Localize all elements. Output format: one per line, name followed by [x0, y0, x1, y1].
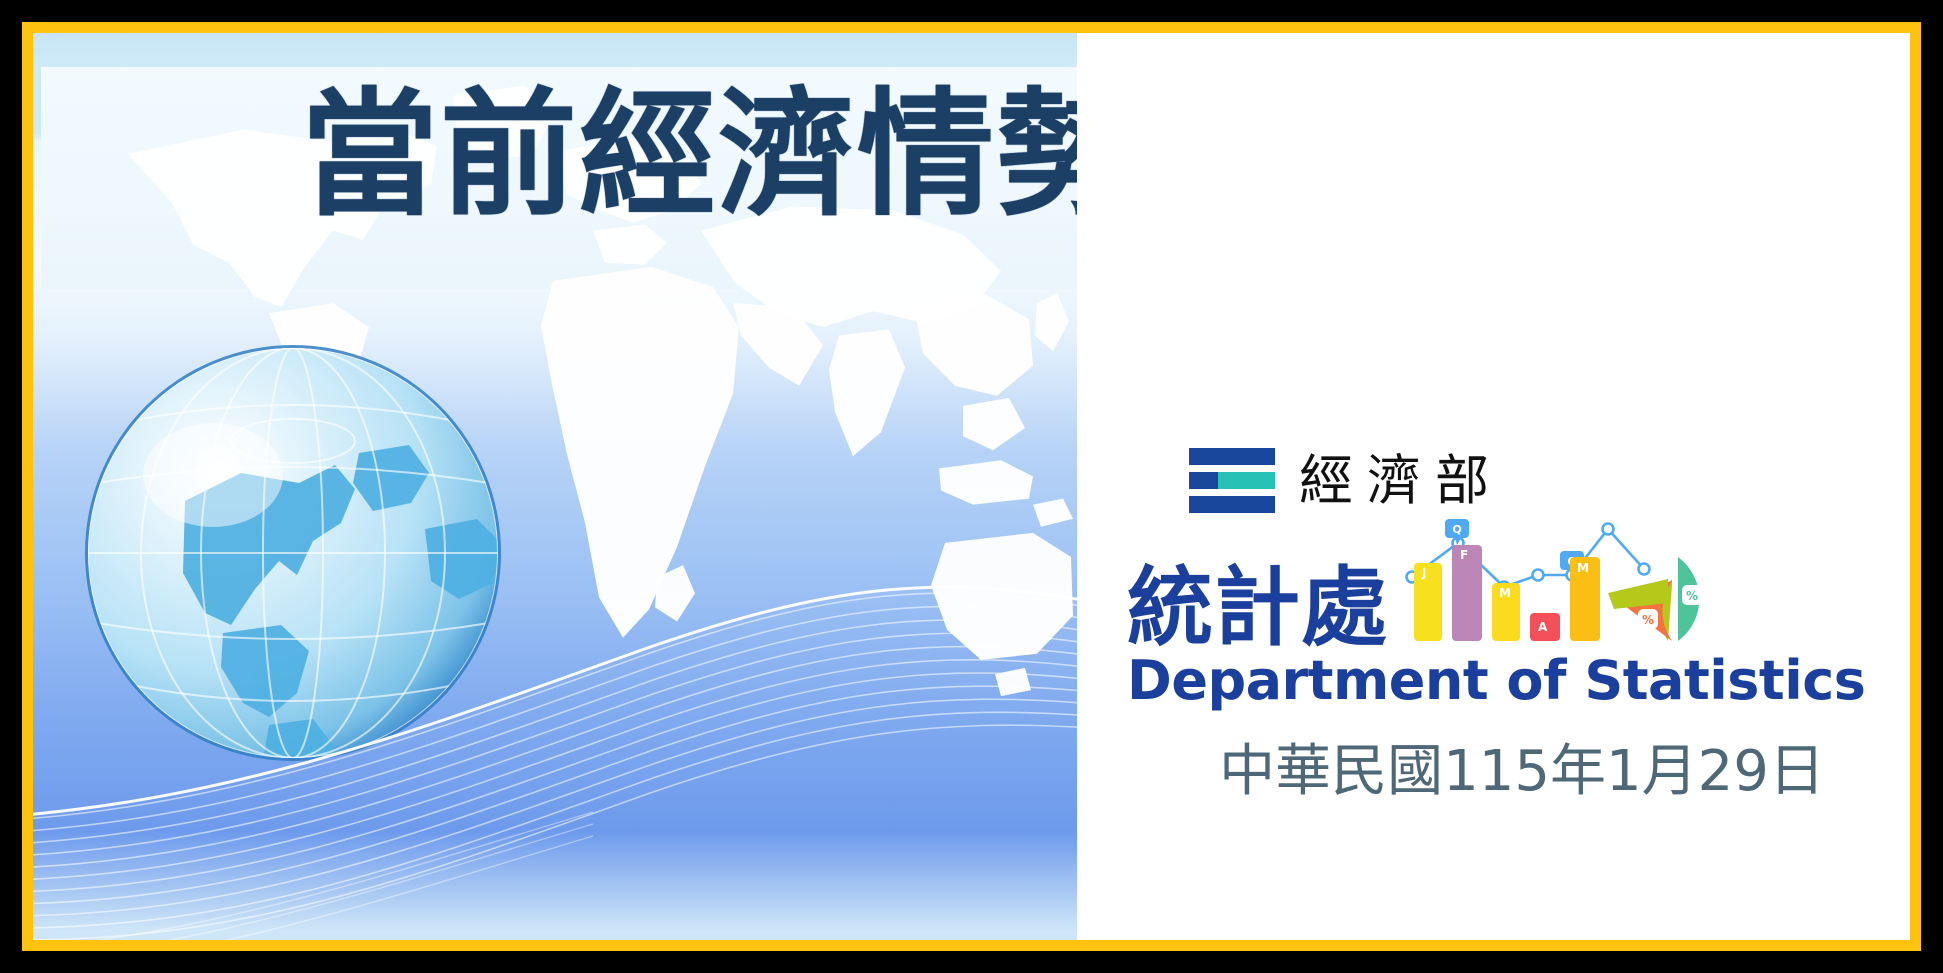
date-label: 中華民國115年1月29日: [1127, 726, 1910, 807]
statistics-infographic-icon: Q Q J F: [1400, 517, 1720, 649]
quarter-badge-icon: Q: [1445, 519, 1469, 545]
svg-text:Q: Q: [1452, 523, 1461, 536]
department-name-en: Department of Statistics: [1127, 653, 1910, 710]
slide-root: 當前經濟情勢概況 經濟部 統計處: [0, 0, 1943, 973]
right-column: 經濟部 統計處: [1077, 33, 1910, 940]
slide-inner: 當前經濟情勢概況 經濟部 統計處: [33, 33, 1910, 940]
svg-text:A: A: [1538, 620, 1548, 634]
svg-text:J: J: [1421, 566, 1426, 580]
bar-chart-icon: J F M A M: [1414, 545, 1600, 641]
artwork-panel: 當前經濟情勢概況: [33, 33, 1077, 940]
page-title: 當前經濟情勢概況: [301, 77, 1077, 236]
organization-logo: 經濟部 統計處: [1127, 448, 1910, 807]
ministry-name: 經濟部: [1299, 454, 1503, 508]
moea-bars-icon: [1189, 448, 1275, 513]
svg-text:F: F: [1460, 548, 1468, 562]
department-row: 統計處: [1127, 517, 1910, 651]
svg-text:M: M: [1499, 586, 1511, 600]
department-name-cn: 統計處: [1127, 565, 1388, 651]
slide-gold-frame: 當前經濟情勢概況 經濟部 統計處: [22, 22, 1921, 951]
wave-swoosh-icon: [33, 520, 1077, 940]
svg-text:%: %: [1686, 589, 1698, 603]
svg-text:%: %: [1642, 613, 1654, 627]
ministry-row: 經濟部: [1189, 448, 1910, 513]
pie-chart-icon: % %: [1608, 557, 1702, 641]
svg-text:M: M: [1577, 561, 1589, 575]
